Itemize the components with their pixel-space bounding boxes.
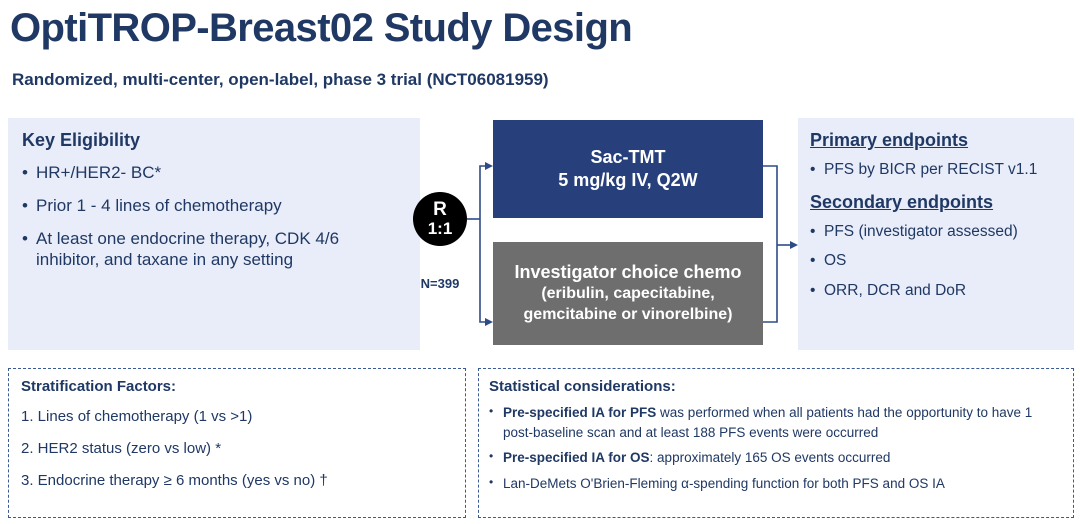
statistics-heading: Statistical considerations: [489, 378, 1061, 395]
experimental-arm-box: Sac-TMT 5 mg/kg IV, Q2W [493, 120, 763, 218]
statistics-item-rest: Lan-DeMets O'Brien-Fleming α-spending fu… [503, 476, 945, 491]
control-arm-name: Investigator choice chemo [514, 261, 741, 284]
primary-endpoints-heading: Primary endpoints [810, 130, 1064, 151]
control-arm-detail-1: (eribulin, capecitabine, [541, 284, 714, 305]
secondary-endpoint-text: PFS (investigator assessed) [824, 222, 1018, 241]
statistics-item-rest: : approximately 165 OS events occurred [650, 450, 891, 465]
bullet-icon: • [489, 403, 503, 442]
secondary-endpoint-item: • OS [810, 251, 1064, 270]
study-design-slide: OptiTROP-Breast02 Study Design Randomize… [0, 0, 1080, 524]
primary-endpoint-text: PFS by BICR per RECIST v1.1 [824, 160, 1037, 179]
stratification-factors-box: Stratification Factors: 1. Lines of chem… [8, 368, 466, 518]
statistics-item: • Pre-specified IA for PFS was performed… [489, 403, 1061, 442]
experimental-arm-name: Sac-TMT [590, 146, 665, 169]
stratification-item: 2. HER2 status (zero vs low) * [21, 440, 453, 457]
secondary-endpoints-heading: Secondary endpoints [810, 192, 1064, 213]
stratification-heading: Stratification Factors: [21, 378, 453, 395]
bullet-icon: • [810, 222, 824, 241]
statistics-item-text: Lan-DeMets O'Brien-Fleming α-spending fu… [503, 474, 945, 494]
statistics-item-text: Pre-specified IA for OS: approximately 1… [503, 448, 890, 468]
stratification-item: 3. Endocrine therapy ≥ 6 months (yes vs … [21, 472, 453, 489]
statistical-considerations-box: Statistical considerations: • Pre-specif… [478, 368, 1074, 518]
secondary-endpoint-item: • PFS (investigator assessed) [810, 222, 1064, 241]
control-arm-box: Investigator choice chemo (eribulin, cap… [493, 242, 763, 345]
statistics-item-lead: Pre-specified IA for PFS [503, 405, 656, 420]
enrollment-count: N=399 [400, 276, 480, 291]
statistics-item-lead: Pre-specified IA for OS [503, 450, 650, 465]
randomization-label: R [433, 200, 447, 220]
statistics-item-text: Pre-specified IA for PFS was performed w… [503, 403, 1061, 442]
stratification-item: 1. Lines of chemotherapy (1 vs >1) [21, 408, 453, 425]
randomization-node: R 1:1 [413, 192, 467, 246]
experimental-arm-dose: 5 mg/kg IV, Q2W [558, 169, 697, 192]
control-arm-detail-2: gemcitabine or vinorelbine) [524, 305, 733, 326]
randomization-ratio: 1:1 [428, 220, 453, 238]
secondary-endpoint-text: ORR, DCR and DoR [824, 281, 966, 300]
bullet-icon: • [810, 160, 824, 179]
statistics-item: • Pre-specified IA for OS: approximately… [489, 448, 1061, 468]
primary-endpoint-item: • PFS by BICR per RECIST v1.1 [810, 160, 1064, 179]
secondary-endpoint-item: • ORR, DCR and DoR [810, 281, 1064, 300]
bullet-icon: • [810, 251, 824, 270]
bullet-icon: • [810, 281, 824, 300]
secondary-endpoint-text: OS [824, 251, 846, 270]
bullet-icon: • [489, 448, 503, 468]
bullet-icon: • [489, 474, 503, 494]
statistics-item: • Lan-DeMets O'Brien-Fleming α-spending … [489, 474, 1061, 494]
endpoints-panel: Primary endpoints • PFS by BICR per RECI… [798, 118, 1074, 350]
